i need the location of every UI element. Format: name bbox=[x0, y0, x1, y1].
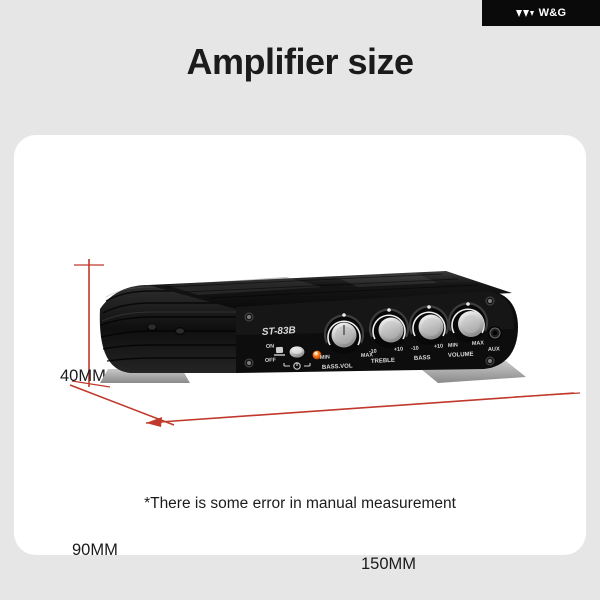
amplifier-product-image: ST-83B ON OFF bbox=[86, 265, 526, 400]
svg-text:-10: -10 bbox=[369, 349, 377, 355]
triangles-logo-icon bbox=[516, 10, 534, 17]
svg-text:+10: +10 bbox=[394, 347, 403, 353]
depth-dimension-label: 90MM bbox=[72, 541, 118, 560]
svg-text:BASS: BASS bbox=[414, 355, 431, 362]
content-card: 40MM 90MM 150MM bbox=[14, 135, 586, 555]
brand-name: W&G bbox=[539, 7, 567, 19]
svg-text:-10: -10 bbox=[411, 346, 419, 352]
svg-text:OFF: OFF bbox=[265, 357, 277, 364]
svg-text:MAX: MAX bbox=[472, 340, 485, 347]
svg-text:ON: ON bbox=[266, 344, 275, 350]
svg-text:AUX: AUX bbox=[488, 346, 500, 353]
page-title: Amplifier size bbox=[0, 41, 600, 83]
svg-text:TREBLE: TREBLE bbox=[371, 358, 395, 365]
svg-text:+10: +10 bbox=[434, 344, 443, 350]
brand-badge: W&G bbox=[482, 0, 600, 26]
svg-text:MIN: MIN bbox=[320, 354, 330, 361]
disclaimer-text: *There is some error in manual measureme… bbox=[14, 495, 586, 513]
width-dimension-label: 150MM bbox=[361, 555, 416, 574]
svg-text:MIN: MIN bbox=[448, 342, 458, 349]
model-name-label: ST-83B bbox=[262, 325, 296, 338]
